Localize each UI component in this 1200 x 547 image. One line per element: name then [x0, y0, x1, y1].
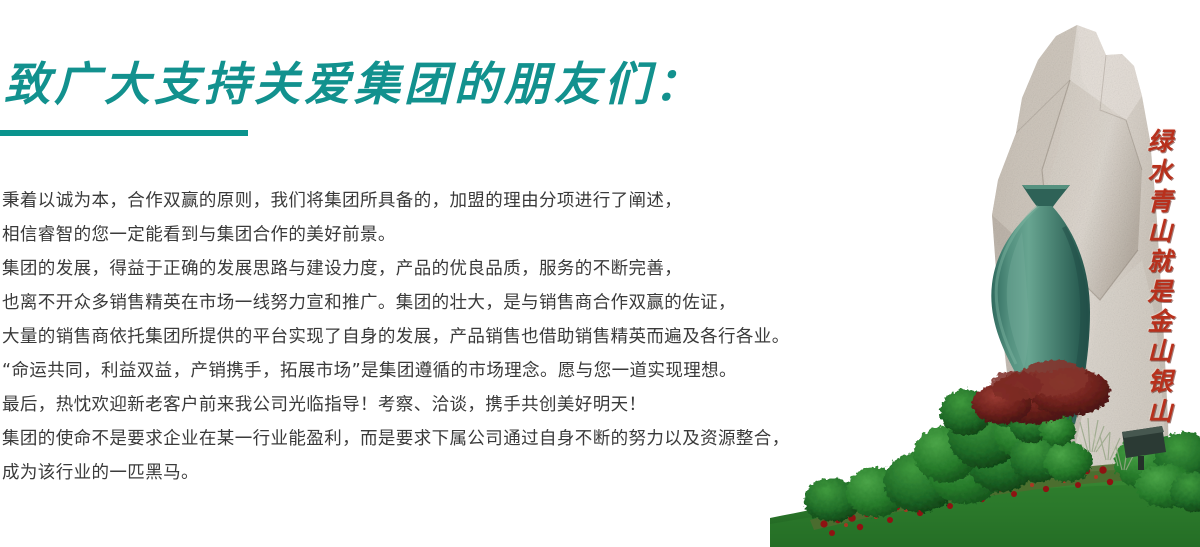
letter-body: 秉着以诚为本，合作双赢的原则，我们将集团所具备的，加盟的理由分项进行了阐述， 相…	[2, 184, 882, 490]
body-line: 最后，热忱欢迎新老客户前来我公司光临指导！考察、洽谈，携手共创美好明天！	[2, 388, 882, 422]
body-line: 大量的销售商依托集团所提供的平台实现了自身的发展，产品销售也借助销售精英而遍及各…	[2, 320, 882, 354]
body-line: 也离不开众多销售精英在市场一线努力宣和推广。集团的壮大，是与销售商合作双赢的佐证…	[2, 286, 882, 320]
body-line: “命运共同，利益双益，产销携手，拓展市场”是集团遵循的市场理念。愿与您一道实现理…	[2, 354, 882, 388]
body-line: 集团的发展，得益于正确的发展思路与建设力度，产品的优良品质，服务的不断完善，	[2, 252, 882, 286]
body-line: 秉着以诚为本，合作双赢的原则，我们将集团所具备的，加盟的理由分项进行了阐述，	[2, 184, 882, 218]
newsletter-page: 绿水青山就是金山银山 致广大支持关爱集团的朋友们： 秉着以诚为本，合作双赢的原则…	[0, 0, 1200, 547]
red-leaf-shrub	[972, 360, 1110, 424]
page-title: 致广大支持关爱集团的朋友们：	[4, 55, 704, 113]
stone-inscription: 绿水青山就是金山银山	[1145, 128, 1172, 428]
ornamental-grass	[1080, 418, 1136, 470]
body-line: 成为该行业的一匹黑马。	[2, 456, 882, 490]
stone-monolith	[970, 0, 1200, 547]
garden-light-fixture	[1122, 426, 1166, 470]
title-accent-bar	[0, 130, 248, 136]
ceramic-vase	[991, 185, 1090, 498]
body-line: 集团的使命不是要求企业在某一行业能盈利，而是要求下属公司通过自身不断的努力以及资…	[2, 422, 882, 456]
body-line: 相信睿智的您一定能看到与集团合作的美好前景。	[2, 218, 882, 252]
